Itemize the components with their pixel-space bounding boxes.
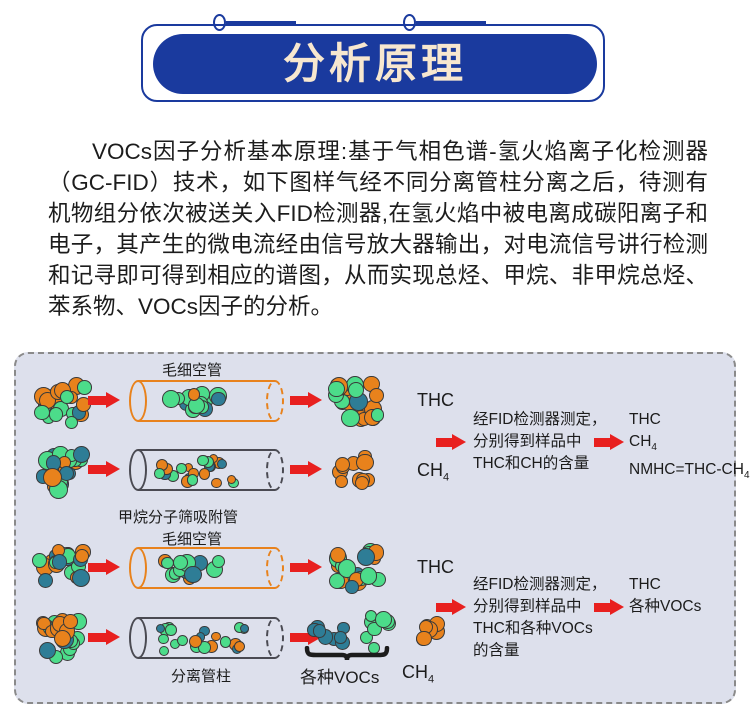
arrow-shaft	[88, 563, 108, 572]
tube-cap-right	[266, 380, 284, 422]
molecule-dot	[234, 641, 245, 652]
result-bottom-line-3: THC和各种VOCs	[473, 618, 606, 640]
molecule-cluster-tube-3	[157, 553, 227, 583]
result-top-line-2: 分别得到样品中	[473, 431, 606, 453]
molecule-dot	[65, 416, 78, 429]
molecule-dot	[187, 474, 199, 486]
result-text-bottom: 经FID检测器测定， 分别得到样品中 THC和各种VOCs 的含量	[473, 574, 606, 662]
flow-arrow-icon	[88, 461, 120, 478]
result-output-bottom: THC 各种VOCs	[629, 574, 701, 618]
molecule-dot	[345, 580, 358, 593]
output-label-thc-2: THC	[417, 557, 454, 578]
tube-wall-top	[138, 449, 275, 451]
molecule-dot	[54, 630, 71, 647]
page-title: 分析原理	[283, 43, 467, 85]
flow-arrow-icon	[290, 461, 322, 478]
label-capillary-tube-top: 毛细空管	[162, 359, 222, 380]
flow-arrow-icon	[88, 559, 120, 576]
molecule-dot	[159, 646, 169, 656]
molecule-dot	[52, 554, 68, 570]
tube-wall-bottom	[138, 489, 275, 491]
tube-cap-right	[266, 547, 284, 589]
vocs-brace-icon	[304, 646, 390, 662]
arrow-head	[610, 434, 624, 450]
molecule-dot	[158, 634, 169, 645]
result-arrow-top-icon	[436, 434, 468, 451]
arrow-head	[308, 559, 322, 575]
arrow-head	[452, 434, 466, 450]
output-label-ch4-1: CH4	[417, 460, 449, 484]
tube-wall-bottom	[138, 420, 275, 422]
molecule-dot	[211, 632, 221, 642]
label-methane-sieve-tube: 甲烷分子筛吸附管	[118, 506, 238, 527]
molecule-dot	[211, 478, 221, 488]
molecule-cluster-input-1	[32, 374, 90, 428]
molecule-dot	[184, 566, 201, 583]
tube-cap-left	[129, 380, 147, 422]
molecule-dot	[162, 390, 180, 408]
tube-wall-top	[138, 547, 275, 549]
molecule-dot	[177, 635, 188, 646]
molecule-dot	[371, 408, 384, 421]
molecule-dot	[328, 381, 344, 397]
result-bottom-line-2: 分别得到样品中	[473, 596, 606, 618]
tube-wall-top	[138, 617, 275, 619]
arrow-shaft	[290, 396, 310, 405]
molecule-dot	[335, 457, 350, 472]
tube-cap-right	[266, 617, 284, 659]
result-output-top: THC CH4 NMHC=THC-CH4	[629, 409, 750, 487]
molecule-cluster-vocs-a	[305, 612, 349, 650]
intro-paragraph: VOCs因子分析基本原理:基于气相色谱-氢火焰离子化检测器（GC-FID）技术，…	[48, 136, 708, 322]
result-arrow-bottom-2-icon	[594, 599, 626, 616]
result-arrow-top-2-icon	[594, 434, 626, 451]
molecule-cluster-output-1	[328, 374, 386, 428]
molecule-dot	[211, 392, 226, 407]
result-top-out-2: CH4	[629, 431, 750, 459]
molecule-dot	[154, 468, 165, 479]
label-various-vocs: 各种VOCs	[300, 663, 379, 688]
result-text-top: 经FID检测器测定， 分别得到样品中 THC和CH的含量	[473, 409, 606, 475]
flow-arrow-icon	[290, 559, 322, 576]
arrow-head	[308, 461, 322, 477]
arrow-shaft	[88, 633, 108, 642]
arrow-head	[106, 559, 120, 575]
molecule-dot	[348, 382, 364, 398]
output-label-ch4-2: CH4	[402, 662, 434, 686]
arrow-shaft	[290, 563, 310, 572]
label-separation-column: 分离管柱	[171, 665, 231, 686]
molecule-dot	[375, 611, 392, 628]
molecule-dot	[355, 476, 369, 490]
process-diagram-panel: 毛细空管 甲烷分子筛吸附管 毛细空管 分离管柱 THC CH4	[14, 352, 736, 704]
result-bottom-line-1: 经FID检测器测定，	[473, 574, 606, 596]
molecule-dot	[217, 459, 227, 469]
molecule-dot	[334, 631, 346, 643]
arrow-head	[106, 461, 120, 477]
molecule-dot	[49, 407, 63, 421]
header-banner: 分析原理	[141, 12, 609, 108]
molecule-dot	[212, 555, 225, 568]
molecule-dot	[416, 631, 432, 647]
molecule-dot	[369, 388, 384, 403]
molecule-dot	[34, 405, 50, 421]
molecule-dot	[75, 549, 89, 563]
result-arrow-bottom-icon	[436, 599, 468, 616]
molecule-cluster-output-2	[331, 449, 381, 489]
result-bottom-line-4: 的含量	[473, 640, 606, 662]
molecule-dot	[38, 573, 54, 589]
molecule-dot	[220, 636, 231, 647]
flow-arrow-icon	[88, 629, 120, 646]
molecule-dot	[357, 548, 375, 566]
molecule-cluster-tube-1	[157, 386, 227, 416]
result-top-out-3: NMHC=THC-CH4	[629, 459, 750, 487]
molecule-cluster-output-3	[328, 541, 386, 595]
molecule-dot	[313, 624, 327, 638]
molecule-dot	[188, 388, 201, 401]
result-top-line-3: THC和CH的含量	[473, 453, 606, 475]
tube-wall-top	[138, 380, 275, 382]
molecule-cluster-tube-2	[153, 453, 249, 487]
arrow-head	[610, 599, 624, 615]
result-top-line-1: 经FID检测器测定，	[473, 409, 606, 431]
arrow-head	[106, 629, 120, 645]
molecule-cluster-tube-4	[153, 621, 249, 655]
molecule-cluster-input-4	[32, 611, 90, 665]
arrow-head	[452, 599, 466, 615]
result-top-out-1: THC	[629, 409, 750, 431]
tube-wall-bottom	[138, 587, 275, 589]
molecule-dot	[173, 555, 188, 570]
tube-cap-right	[266, 449, 284, 491]
molecule-dot	[176, 463, 187, 474]
molecule-cluster-input-2	[32, 443, 90, 497]
molecule-dot	[356, 454, 373, 471]
arrow-head	[106, 392, 120, 408]
result-bottom-out-1: THC	[629, 574, 701, 596]
molecule-dot	[335, 475, 348, 488]
tube-wall-bottom	[138, 657, 275, 659]
result-bottom-out-2: 各种VOCs	[629, 596, 701, 618]
arrow-shaft	[290, 465, 310, 474]
flow-arrow-icon	[88, 392, 120, 409]
arrow-shaft	[88, 465, 108, 474]
molecule-dot	[199, 468, 211, 480]
tube-cap-left	[129, 449, 147, 491]
tube-cap-left	[129, 547, 147, 589]
molecule-cluster-input-3	[32, 541, 90, 595]
output-label-thc-1: THC	[417, 390, 454, 411]
arrow-head	[308, 392, 322, 408]
molecule-dot	[156, 624, 165, 633]
label-capillary-tube-bottom: 毛细空管	[162, 528, 222, 549]
tube-cap-left	[129, 617, 147, 659]
molecule-dot	[360, 567, 378, 585]
flow-arrow-icon	[290, 392, 322, 409]
banner-fill: 分析原理	[153, 34, 597, 94]
molecule-dot	[63, 614, 78, 629]
arrow-shaft	[88, 396, 108, 405]
molecule-cluster-ch4	[406, 612, 452, 648]
